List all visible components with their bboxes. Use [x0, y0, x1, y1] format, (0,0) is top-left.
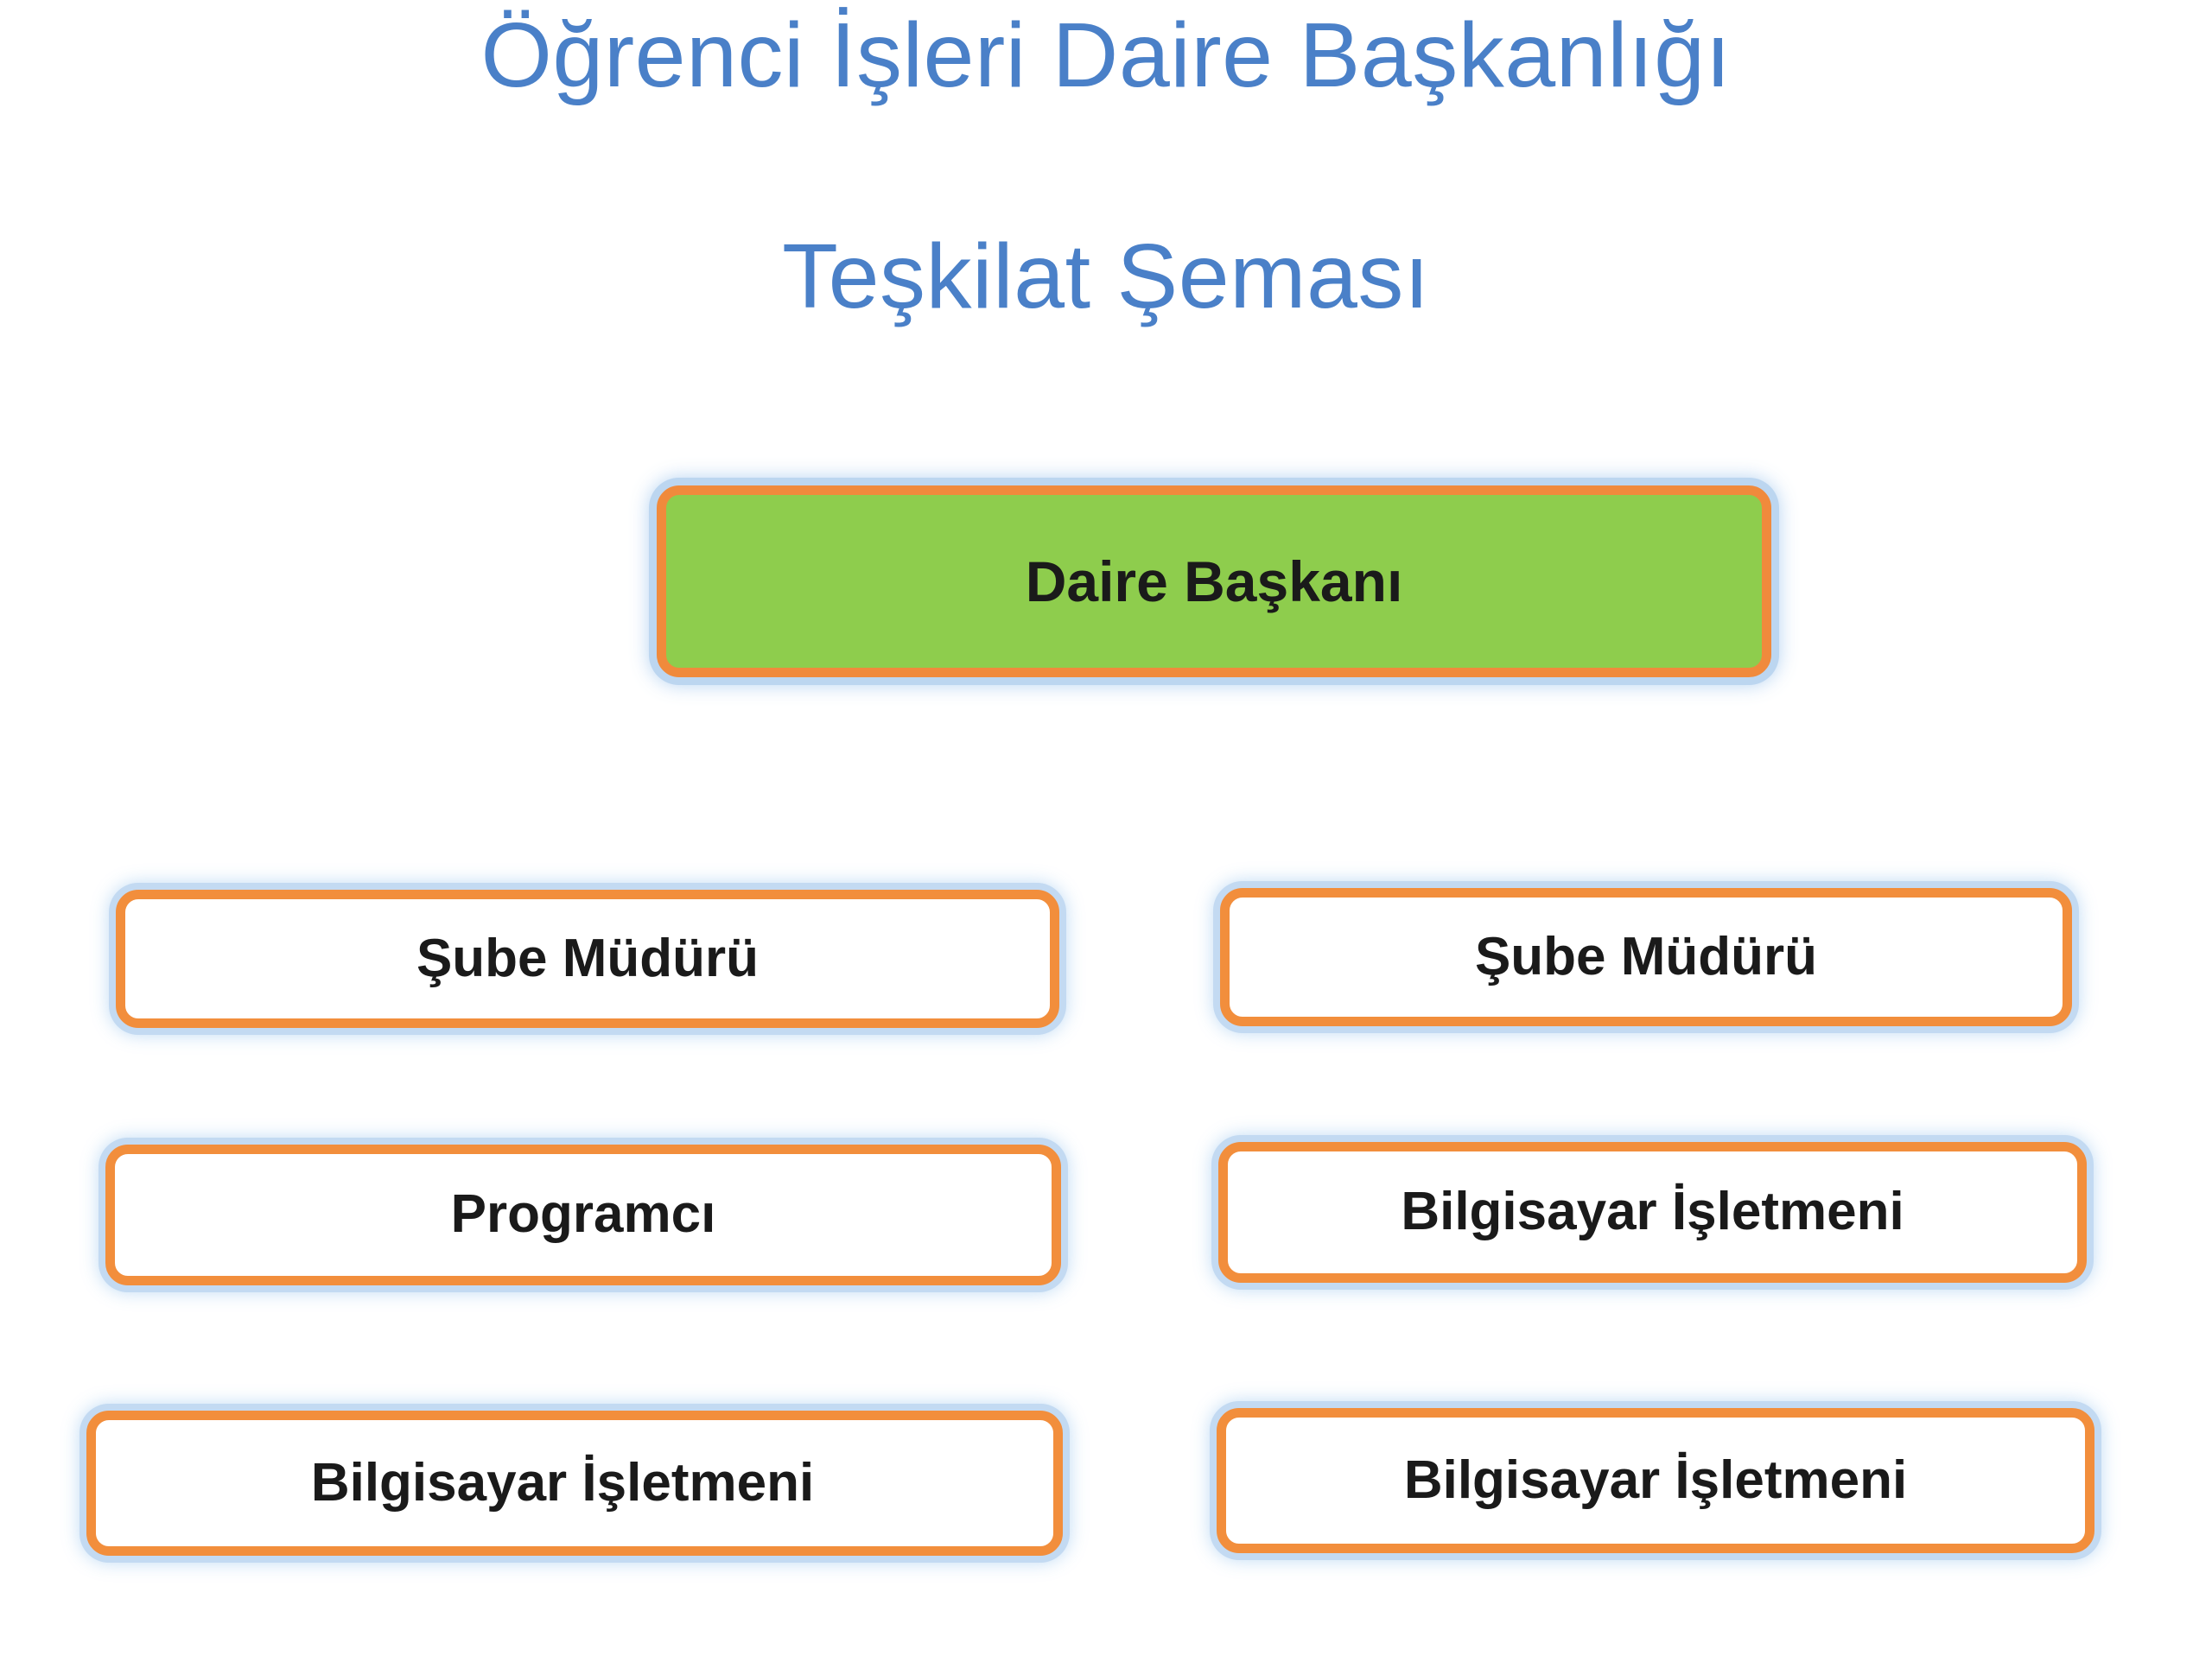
- org-node-right-bilgisayar-isletmeni-1[interactable]: Bilgisayar İşletmeni: [1218, 1142, 2087, 1283]
- org-chart-page: Öğrenci İşleri Daire Başkanlığı Teşkilat…: [0, 0, 2212, 1662]
- org-node-label: Bilgisayar İşletmeni: [1404, 1451, 1907, 1510]
- org-node-right-bilgisayar-isletmeni-2[interactable]: Bilgisayar İşletmeni: [1217, 1408, 2094, 1553]
- org-node-right-sube-muduru[interactable]: Şube Müdürü: [1220, 888, 2072, 1026]
- org-node-left-bilgisayar-isletmeni[interactable]: Bilgisayar İşletmeni: [86, 1411, 1063, 1556]
- org-node-label: Bilgisayar İşletmeni: [1401, 1183, 1904, 1241]
- org-node-label: Şube Müdürü: [1475, 928, 1817, 986]
- org-node-left-sube-muduru[interactable]: Şube Müdürü: [116, 890, 1059, 1028]
- org-node-daire-baskani[interactable]: Daire Başkanı: [657, 485, 1771, 677]
- org-node-label: Şube Müdürü: [416, 929, 759, 988]
- page-title-line-1: Öğrenci İşleri Daire Başkanlığı: [0, 2, 2212, 109]
- org-node-label: Bilgisayar İşletmeni: [311, 1454, 814, 1513]
- org-node-left-programci[interactable]: Programcı: [105, 1145, 1061, 1285]
- page-title-line-2: Teşkilat Şeması: [0, 223, 2212, 330]
- org-node-label: Daire Başkanı: [1026, 550, 1403, 613]
- org-node-label: Programcı: [451, 1185, 716, 1244]
